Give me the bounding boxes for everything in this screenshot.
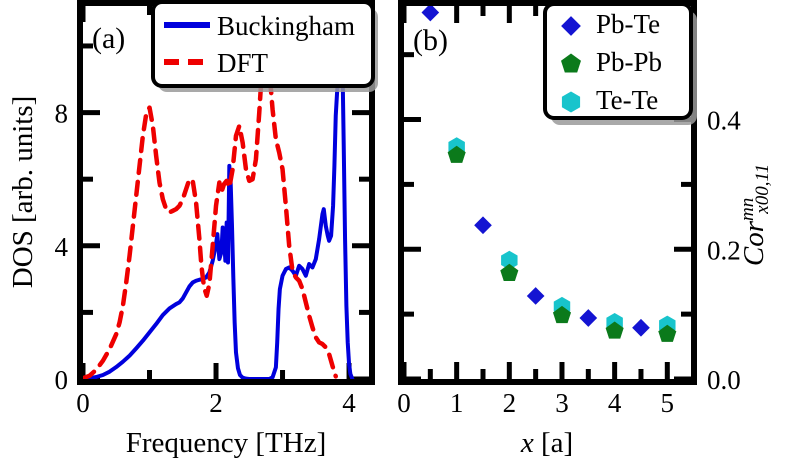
x-tick-label: 3 — [555, 388, 569, 418]
y-tick-label: 4 — [55, 232, 69, 262]
panel-b-y-axis-base: Cor — [738, 220, 770, 266]
x-tick-label: 5 — [661, 388, 675, 418]
panel-b-x-axis-unit: [a] — [534, 427, 573, 459]
panel-a-legend-label-dft: DFT — [217, 48, 269, 78]
panel-b-correlation-chart: 0123450.00.20.4 x [a] Cormnx00,11 (b) Pb… — [395, 0, 790, 464]
x-tick-label: 0 — [76, 388, 90, 418]
y-tick-label: 0.0 — [707, 365, 741, 395]
x-tick-label: 4 — [608, 388, 622, 418]
figure-root: 024048 DOS [arb. units] Frequency [THz] … — [0, 0, 790, 464]
x-tick-label: 0 — [397, 388, 411, 418]
svg-text:x [a]: x [a] — [520, 427, 573, 459]
x-tick-label: 2 — [503, 388, 517, 418]
y-tick-label: 0.2 — [707, 235, 741, 265]
panel-a-tag: (a) — [92, 22, 125, 55]
svg-text:Cormnx00,11: Cormnx00,11 — [737, 164, 773, 266]
panel-b-legend-label-pb-te: Pb-Te — [596, 9, 660, 39]
x-tick-label: 1 — [450, 388, 464, 418]
panel-b-legend-label-te-te: Te-Te — [596, 85, 658, 115]
panel-a-legend-label-buckingham: Buckingham — [217, 11, 355, 41]
panel-a-y-axis-title: DOS [arb. units] — [7, 96, 39, 289]
panel-b-x-axis-symbol: x — [520, 427, 534, 459]
panel-a-dos-chart: 024048 DOS [arb. units] Frequency [THz] … — [0, 0, 400, 464]
y-tick-label: 8 — [55, 99, 69, 129]
panel-b-legend-label-pb-pb: Pb-Pb — [596, 47, 662, 77]
panel-b-legend[interactable]: Pb-Te Pb-Pb Te-Te — [545, 4, 697, 125]
y-tick-label: 0 — [55, 365, 69, 395]
panel-b-y-axis-title: Cormnx00,11 — [737, 164, 773, 266]
panel-a-x-axis-title: Frequency [THz] — [126, 427, 327, 459]
panel-b-y-axis-subscript: x00,11 — [752, 164, 773, 215]
x-tick-label: 2 — [209, 388, 223, 418]
panel-a-legend[interactable]: Buckingham DFT — [153, 2, 378, 92]
x-tick-label: 4 — [342, 388, 356, 418]
y-tick-label: 0.4 — [707, 106, 741, 136]
panel-b-tag: (b) — [413, 24, 448, 57]
panel-b-x-axis-title: x [a] — [520, 427, 573, 459]
